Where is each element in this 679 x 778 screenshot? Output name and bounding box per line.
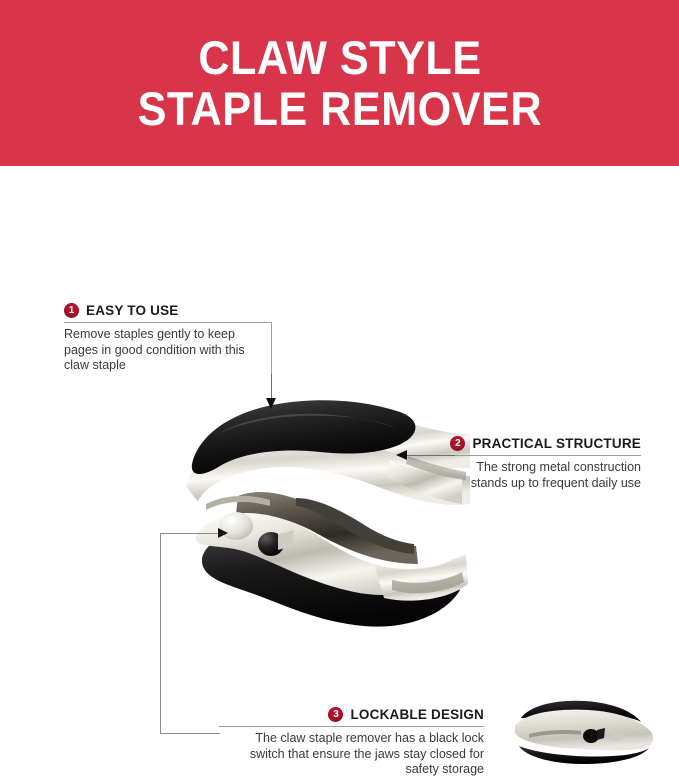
leader-line-callout-2	[404, 455, 456, 456]
callout-lockable-design: 3 LOCKABLE DESIGN The claw staple remove…	[219, 707, 484, 778]
arrow-down-icon	[266, 398, 276, 409]
callout-1-badge: 1	[64, 303, 79, 318]
arrow-left-icon	[396, 450, 407, 460]
product-image-main	[178, 368, 478, 668]
callout-1-body: Remove staples gently to keep pages in g…	[64, 323, 265, 374]
infographic-page: CLAW STYLE STAPLE REMOVER	[0, 0, 679, 771]
callout-practical-structure: 2 PRACTICAL STRUCTURE The strong metal c…	[455, 436, 641, 491]
inset-lock-switch	[583, 729, 599, 743]
inset-release-button	[610, 729, 624, 741]
callout-3-title: LOCKABLE DESIGN	[350, 707, 484, 722]
page-title-line-2: STAPLE REMOVER	[137, 83, 541, 134]
header-banner: CLAW STYLE STAPLE REMOVER	[0, 0, 679, 166]
callout-1-title: EASY TO USE	[86, 303, 178, 318]
arrow-right-icon	[218, 528, 228, 538]
callout-3-header: 3 LOCKABLE DESIGN	[219, 707, 484, 722]
callout-1-header: 1 EASY TO USE	[64, 303, 272, 318]
leader-line-callout-3-vertical	[160, 533, 161, 733]
leader-line-callout-3-bottom	[160, 733, 220, 734]
callout-2-badge: 2	[450, 436, 465, 451]
callout-easy-to-use: 1 EASY TO USE Remove staples gently to k…	[64, 303, 272, 374]
staple-remover-illustration	[178, 368, 478, 668]
page-title-line-1: CLAW STYLE	[198, 32, 481, 83]
callout-1-body-wrap: Remove staples gently to keep pages in g…	[64, 323, 272, 374]
staple-remover-locked-illustration	[505, 688, 665, 768]
callout-3-badge: 3	[328, 707, 343, 722]
callout-2-title: PRACTICAL STRUCTURE	[472, 436, 641, 451]
leader-line-callout-3-top	[160, 533, 222, 534]
callout-2-header: 2 PRACTICAL STRUCTURE	[455, 436, 641, 451]
product-image-inset	[505, 688, 665, 768]
callout-2-body: The strong metal construction stands up …	[455, 456, 641, 491]
callout-3-body: The claw staple remover has a black lock…	[219, 727, 484, 778]
